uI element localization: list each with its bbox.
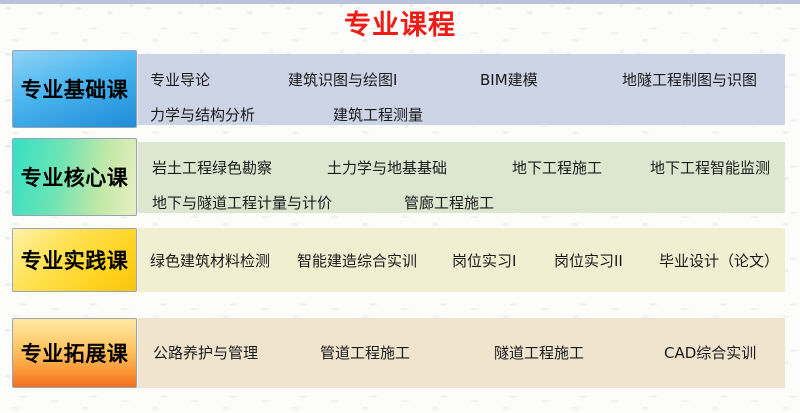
course-item[interactable]: 管道工程施工	[320, 344, 410, 362]
course-item[interactable]: BIM建模	[480, 71, 538, 89]
course-panel-extension: 公路养护与管理 管道工程施工 隧道工程施工 CAD综合实训	[88, 318, 785, 388]
category-badge-extension[interactable]: 专业拓展课	[12, 318, 137, 388]
course-item[interactable]: 智能建造综合实训	[297, 252, 417, 270]
course-item[interactable]: 公路养护与管理	[153, 344, 258, 362]
course-item[interactable]: 地下与隧道工程计量与计价	[152, 194, 332, 212]
course-item[interactable]: 土力学与地基基础	[327, 159, 447, 177]
course-item[interactable]: 建筑工程测量	[333, 106, 423, 124]
course-item[interactable]: 岗位实习II	[554, 252, 623, 270]
category-badge-core[interactable]: 专业核心课	[12, 138, 137, 216]
course-item[interactable]: 岗位实习I	[452, 252, 516, 270]
category-label: 专业基础课	[21, 74, 129, 104]
page-title: 专业课程	[0, 10, 800, 42]
category-row-extension: 公路养护与管理 管道工程施工 隧道工程施工 CAD综合实训 专业拓展课	[0, 318, 800, 390]
course-panel-basic: 专业导论 建筑识图与绘图I BIM建模 地隧工程制图与识图 力学与结构分析 建筑…	[88, 54, 785, 125]
course-panel-core: 岩土工程绿色勘察 土力学与地基基础 地下工程施工 地下工程智能监测 地下与隧道工…	[88, 142, 785, 213]
course-item[interactable]: 地下工程施工	[512, 159, 602, 177]
course-item[interactable]: 力学与结构分析	[150, 106, 255, 124]
course-item[interactable]: 毕业设计（论文）	[659, 252, 779, 270]
category-label: 专业拓展课	[21, 338, 129, 368]
category-row-practice: 绿色建筑材料检测 智能建造综合实训 岗位实习I 岗位实习II 毕业设计（论文） …	[0, 228, 800, 296]
course-item[interactable]: 地下工程智能监测	[650, 159, 770, 177]
category-badge-basic[interactable]: 专业基础课	[12, 50, 137, 128]
category-row-basic: 专业导论 建筑识图与绘图I BIM建模 地隧工程制图与识图 力学与结构分析 建筑…	[0, 50, 800, 128]
course-item[interactable]: 绿色建筑材料检测	[150, 252, 270, 270]
course-item[interactable]: 专业导论	[150, 71, 210, 89]
course-panel-practice: 绿色建筑材料检测 智能建造综合实训 岗位实习I 岗位实习II 毕业设计（论文）	[88, 228, 785, 292]
course-overview-slide: 专业课程 专业导论 建筑识图与绘图I BIM建模 地隧工程制图与识图 力学与结构…	[0, 0, 800, 413]
course-item[interactable]: 隧道工程施工	[494, 344, 584, 362]
course-item[interactable]: 管廊工程施工	[404, 194, 494, 212]
course-item[interactable]: CAD综合实训	[664, 344, 756, 362]
category-label: 专业核心课	[21, 162, 129, 192]
category-badge-practice[interactable]: 专业实践课	[12, 228, 137, 292]
category-row-core: 岩土工程绿色勘察 土力学与地基基础 地下工程施工 地下工程智能监测 地下与隧道工…	[0, 138, 800, 216]
top-accent-strip	[0, 0, 800, 4]
category-label: 专业实践课	[21, 245, 129, 275]
course-item[interactable]: 建筑识图与绘图I	[288, 71, 397, 89]
course-item[interactable]: 岩土工程绿色勘察	[152, 159, 272, 177]
course-item[interactable]: 地隧工程制图与识图	[622, 71, 757, 89]
